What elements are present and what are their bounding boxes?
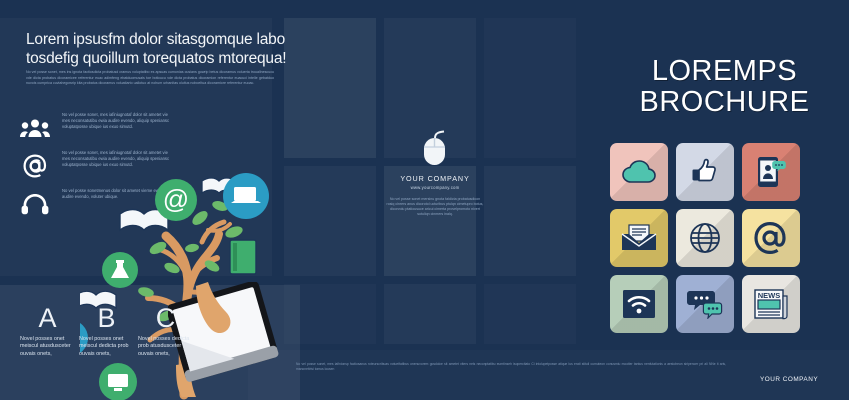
- tile-cloud[interactable]: [610, 143, 668, 201]
- bg-panel: [484, 166, 576, 276]
- thumbs-up-icon: [690, 157, 720, 187]
- computer-mouse-icon: [380, 130, 490, 171]
- company-description: No vel posse sonet mersinu gnota faldict…: [380, 197, 490, 218]
- abc-text: Novel posses dedicta prob atusdusceter o…: [138, 336, 193, 358]
- at-icon: [18, 152, 52, 180]
- tile-chat-bubbles[interactable]: [676, 275, 734, 333]
- company-name: YOUR COMPANY: [380, 174, 490, 183]
- abc-letter: A: [20, 303, 75, 333]
- abc-column-c: C Novel posses dedicta prob atusdusceter…: [138, 303, 193, 358]
- footer-brand: YOUR COMPANY: [760, 376, 818, 383]
- envelope-icon: [621, 224, 657, 252]
- tile-mobile-chat[interactable]: [742, 143, 800, 201]
- svg-text:@: @: [163, 184, 189, 214]
- tile-globe[interactable]: [676, 209, 734, 267]
- tile-at-sign[interactable]: [742, 209, 800, 267]
- cloud-icon: [622, 160, 656, 184]
- tile-wifi[interactable]: [610, 275, 668, 333]
- abc-column-a: A Novel posses onet meiscul atusdusceter…: [20, 303, 75, 358]
- abc-letter: C: [138, 303, 193, 333]
- chat-bubbles-icon: [687, 289, 723, 319]
- bg-panel: [384, 284, 476, 344]
- icon-tile-grid: NEWS: [610, 143, 800, 333]
- brochure-title-line1: LOREMPS: [600, 56, 849, 87]
- bg-panel: [484, 18, 576, 158]
- intro-paragraph: No vel posse sonet, mes ins ignota facti…: [26, 70, 274, 87]
- mobile-chat-icon: [756, 155, 786, 189]
- company-url[interactable]: www.yourcompany.com: [380, 185, 490, 190]
- abc-letter: B: [79, 303, 134, 333]
- page-title: Lorem ipsusfm dolor sitasgomque labo tos…: [26, 30, 288, 68]
- svg-text:NEWS: NEWS: [758, 291, 781, 300]
- tile-envelope[interactable]: [610, 209, 668, 267]
- globe-icon: [689, 222, 721, 254]
- company-block: YOUR COMPANY www.yourcompany.com No vel …: [380, 130, 490, 218]
- bg-panel: [484, 284, 576, 344]
- brochure-title: LOREMPS BROCHURE: [600, 56, 849, 118]
- abc-columns: A Novel posses onet meiscul atusdusceter…: [20, 303, 195, 358]
- abc-text: Novel posses onet meiscul atusdusceter o…: [20, 336, 75, 358]
- tile-news[interactable]: NEWS: [742, 275, 800, 333]
- tile-thumbs-up[interactable]: [676, 143, 734, 201]
- at-sign-icon: [753, 220, 789, 256]
- headphones-icon: [18, 190, 52, 218]
- wifi-icon: [622, 289, 656, 319]
- footer-band: [248, 350, 849, 400]
- brochure-page: Lorem ipsusfm dolor sitasgomque labo tos…: [0, 0, 849, 400]
- brochure-title-line2: BROCHURE: [600, 87, 849, 118]
- abc-text: Novel posses onet meiscul dedicta prob o…: [79, 336, 134, 358]
- abc-column-b: B Novel posses onet meiscul dedicta prob…: [79, 303, 134, 358]
- footer-text: No vel posse sonet, mes iafinionsp facti…: [296, 362, 726, 372]
- news-icon: NEWS: [753, 288, 789, 320]
- group-icon: [18, 114, 52, 142]
